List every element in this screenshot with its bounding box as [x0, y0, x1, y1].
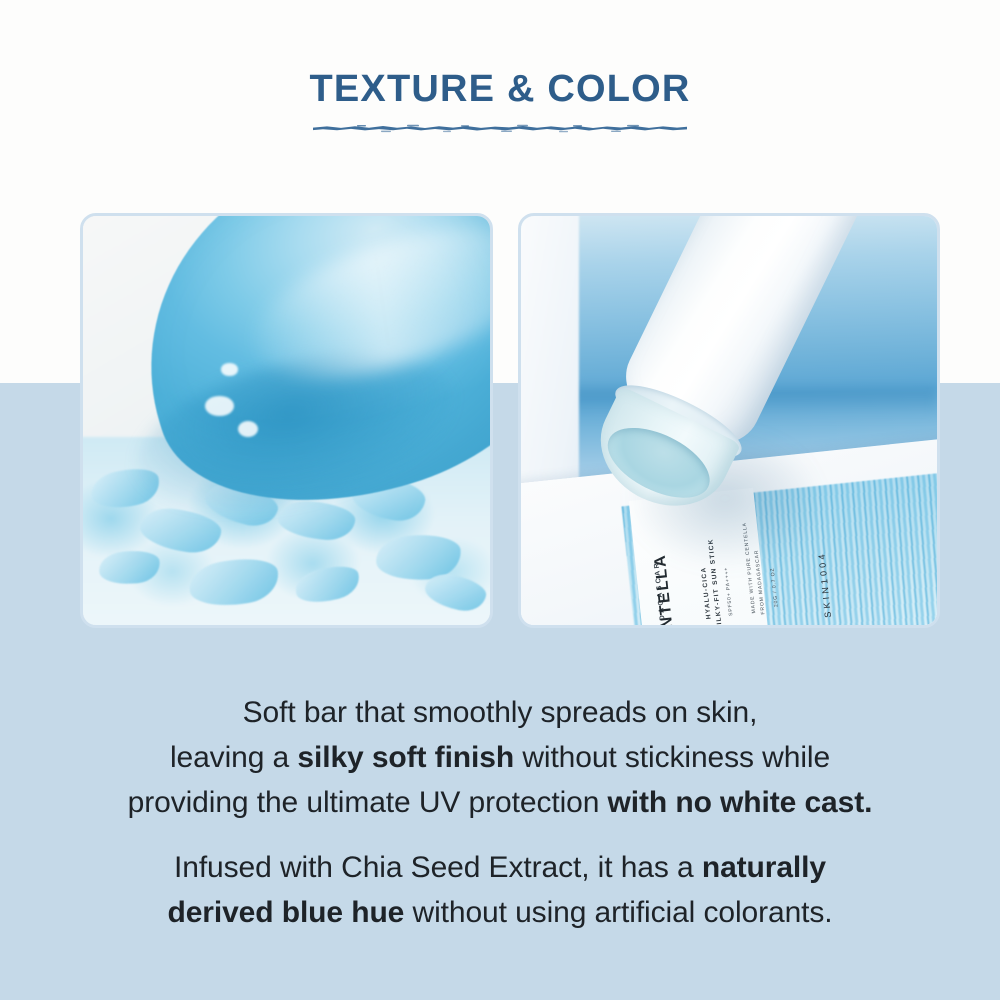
- body-text: Infused with Chia Seed Extract, it has a: [174, 851, 702, 884]
- product-detail-page: TEXTURE & COLOR: [0, 0, 1000, 1000]
- page-title: TEXTURE & COLOR: [0, 70, 1000, 110]
- product-stick-image: MADAGASCAR CENTELLA HYALU-CICA SILKY-FIT…: [521, 216, 937, 625]
- label-product-line: CENTELLA: [652, 553, 680, 625]
- brand-logo: SKIN1004: [816, 551, 833, 618]
- body-text: without using artificial colorants.: [404, 896, 832, 929]
- body-text: leaving a: [170, 741, 297, 774]
- emphasis-text: with no white cast.: [608, 786, 873, 819]
- product-stick-photo[interactable]: MADAGASCAR CENTELLA HYALU-CICA SILKY-FIT…: [518, 213, 940, 628]
- label-net-weight: 20G / 0.7 OZ: [770, 567, 780, 607]
- bar-chip: [205, 396, 233, 416]
- description-paragraph-1: Soft bar that smoothly spreads on skin,l…: [0, 690, 1000, 825]
- emphasis-text: derived blue hue: [167, 896, 404, 929]
- texture-closeup-photo[interactable]: [80, 213, 493, 628]
- body-text: Soft bar that smoothly spreads on skin,: [243, 696, 758, 729]
- description-paragraph-2: Infused with Chia Seed Extract, it has a…: [0, 845, 1000, 935]
- description-line-1: Soft bar that smoothly spreads on skin,: [0, 690, 1000, 735]
- body-text: providing the ultimate UV protection: [128, 786, 608, 819]
- texture-closeup-image: [83, 216, 490, 625]
- body-text: without stickiness while: [514, 741, 830, 774]
- description-line-2: leaving a silky soft finish without stic…: [0, 735, 1000, 780]
- description-line-1: Infused with Chia Seed Extract, it has a…: [0, 845, 1000, 890]
- description-line-2: derived blue hue without using artificia…: [0, 890, 1000, 935]
- emphasis-text: silky soft finish: [297, 741, 514, 774]
- section-header: TEXTURE & COLOR: [0, 70, 1000, 134]
- bar-chip: [221, 363, 237, 375]
- description-line-3: providing the ultimate UV protection wit…: [0, 780, 1000, 825]
- bar-chip: [238, 421, 258, 437]
- brush-stroke-underline-icon: [311, 120, 689, 134]
- emphasis-text: naturally: [702, 851, 826, 884]
- label-sub-line-3: SPF50+ PA++++: [724, 566, 735, 616]
